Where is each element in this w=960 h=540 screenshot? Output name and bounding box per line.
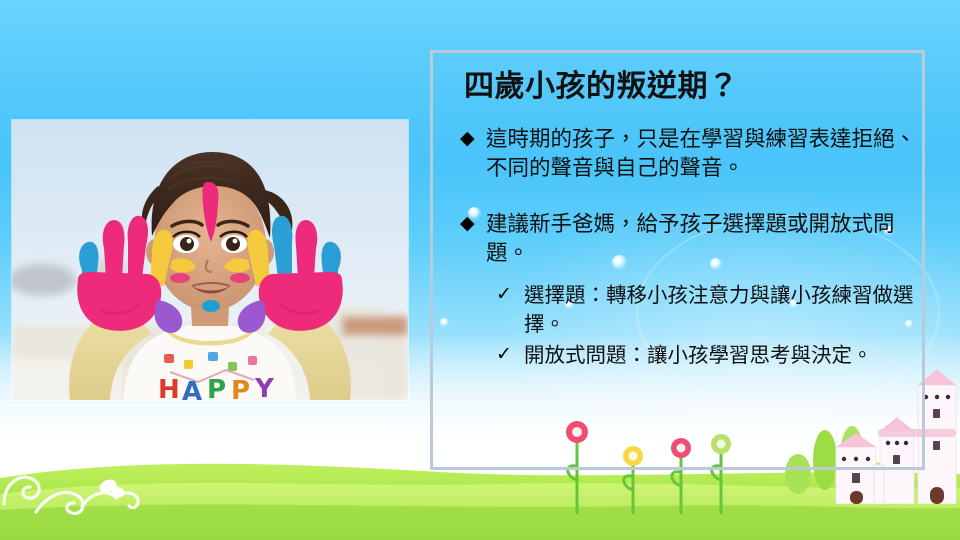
svg-text:A: A bbox=[182, 377, 202, 400]
bullet-text: 這時期的孩子，只是在學習與練習表達拒絕、不同的聲音與自己的聲音。 bbox=[486, 125, 922, 184]
diamond-bullet-icon: ◆ bbox=[460, 210, 486, 238]
diamond-bullet-icon: ◆ bbox=[460, 125, 486, 153]
bullet-item: ◆ 建議新手爸媽，給予孩子選擇題或開放式問題。 bbox=[460, 210, 922, 269]
sub-bullet-text: 選擇題：轉移小孩注意力與讓小孩練習做選擇。 bbox=[524, 281, 922, 339]
check-bullet-icon: ✓ bbox=[496, 281, 524, 309]
slide-photo: H A P P Y bbox=[12, 120, 408, 400]
check-bullet-icon: ✓ bbox=[496, 341, 524, 369]
svg-text:P: P bbox=[207, 375, 226, 400]
page-title: 四歲小孩的叛逆期？ bbox=[464, 70, 922, 105]
sub-bullet-text: 開放式問題：讓小孩學習思考與決定。 bbox=[524, 341, 922, 370]
svg-text:H: H bbox=[158, 375, 180, 400]
slide-canvas: H A P P Y bbox=[0, 0, 960, 540]
sub-bullet-item: ✓ 開放式問題：讓小孩學習思考與決定。 bbox=[496, 341, 922, 370]
bullet-list: ◆ 這時期的孩子，只是在學習與練習表達拒絕、不同的聲音與自己的聲音。 ◆ 建議新… bbox=[452, 125, 922, 371]
svg-text:P: P bbox=[231, 376, 250, 400]
content-panel: 四歲小孩的叛逆期？ ◆ 這時期的孩子，只是在學習與練習表達拒絕、不同的聲音與自己… bbox=[440, 52, 930, 472]
swirl-ornament-decoration bbox=[0, 442, 186, 522]
sub-bullet-item: ✓ 選擇題：轉移小孩注意力與讓小孩練習做選擇。 bbox=[496, 281, 922, 339]
bullet-spacer bbox=[452, 196, 922, 210]
svg-text:Y: Y bbox=[254, 374, 275, 400]
bullet-item: ◆ 這時期的孩子，只是在學習與練習表達拒絕、不同的聲音與自己的聲音。 bbox=[460, 125, 922, 184]
bullet-text: 建議新手爸媽，給予孩子選擇題或開放式問題。 bbox=[486, 210, 922, 269]
